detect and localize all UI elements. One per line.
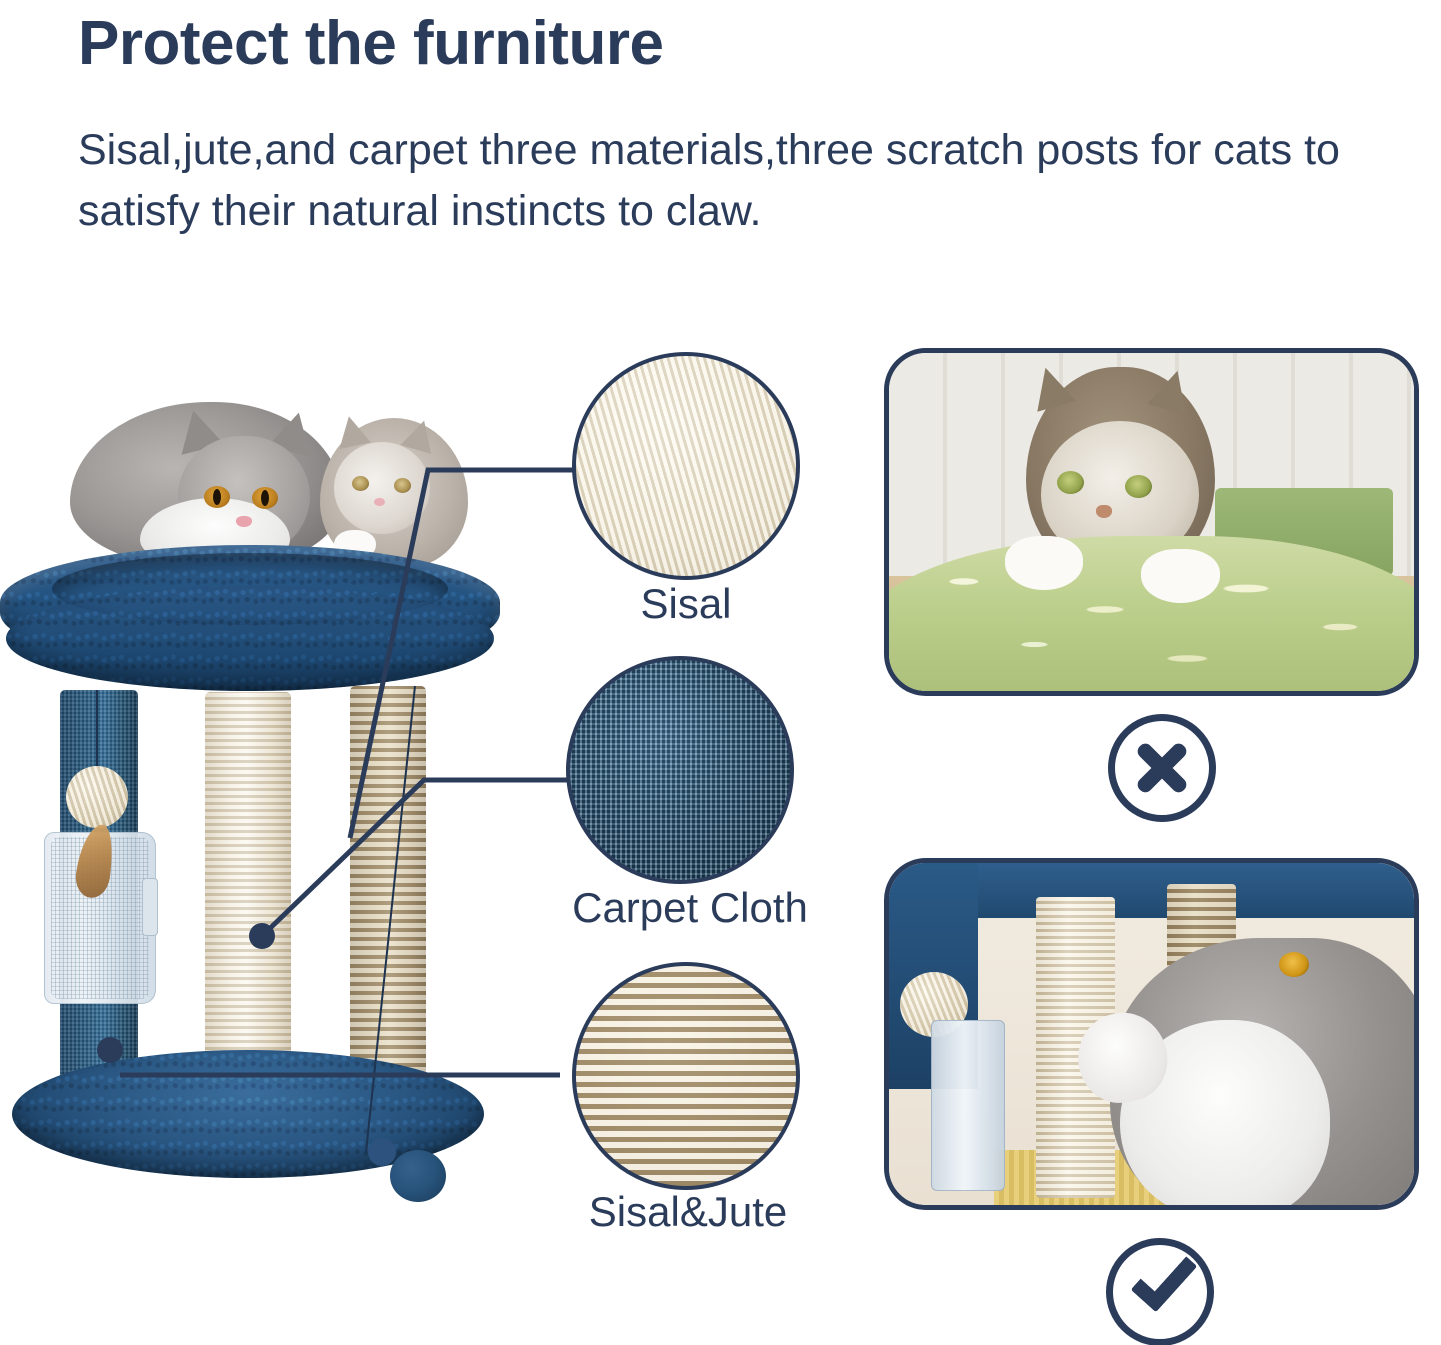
tabby-paw-left xyxy=(1005,536,1084,590)
check-mark-icon xyxy=(1106,1238,1214,1345)
leader-dot-sisal-jute xyxy=(97,1037,123,1063)
sisal-rope-swatch xyxy=(572,352,800,580)
tabby-eye-right xyxy=(1125,475,1152,498)
tabby-paw-right xyxy=(1141,549,1220,603)
cat-scratching-sofa-photo xyxy=(884,348,1419,696)
x-mark-icon xyxy=(1108,714,1216,822)
self-groomer-closeup xyxy=(931,1020,1005,1191)
material-label-sisal: Sisal xyxy=(572,580,800,628)
infographic-page: Protect the furniture Sisal,jute,and car… xyxy=(0,0,1441,1345)
leader-dot-carpet xyxy=(249,923,275,949)
sisal-jute-rope-swatch xyxy=(572,962,800,1190)
cat-using-scratch-post-photo xyxy=(884,858,1419,1210)
material-label-carpet-cloth: Carpet Cloth xyxy=(556,884,824,932)
carpet-cloth-swatch xyxy=(566,656,794,884)
grey-cat-eye xyxy=(1279,952,1309,977)
material-label-sisal-jute: Sisal&Jute xyxy=(570,1188,806,1236)
